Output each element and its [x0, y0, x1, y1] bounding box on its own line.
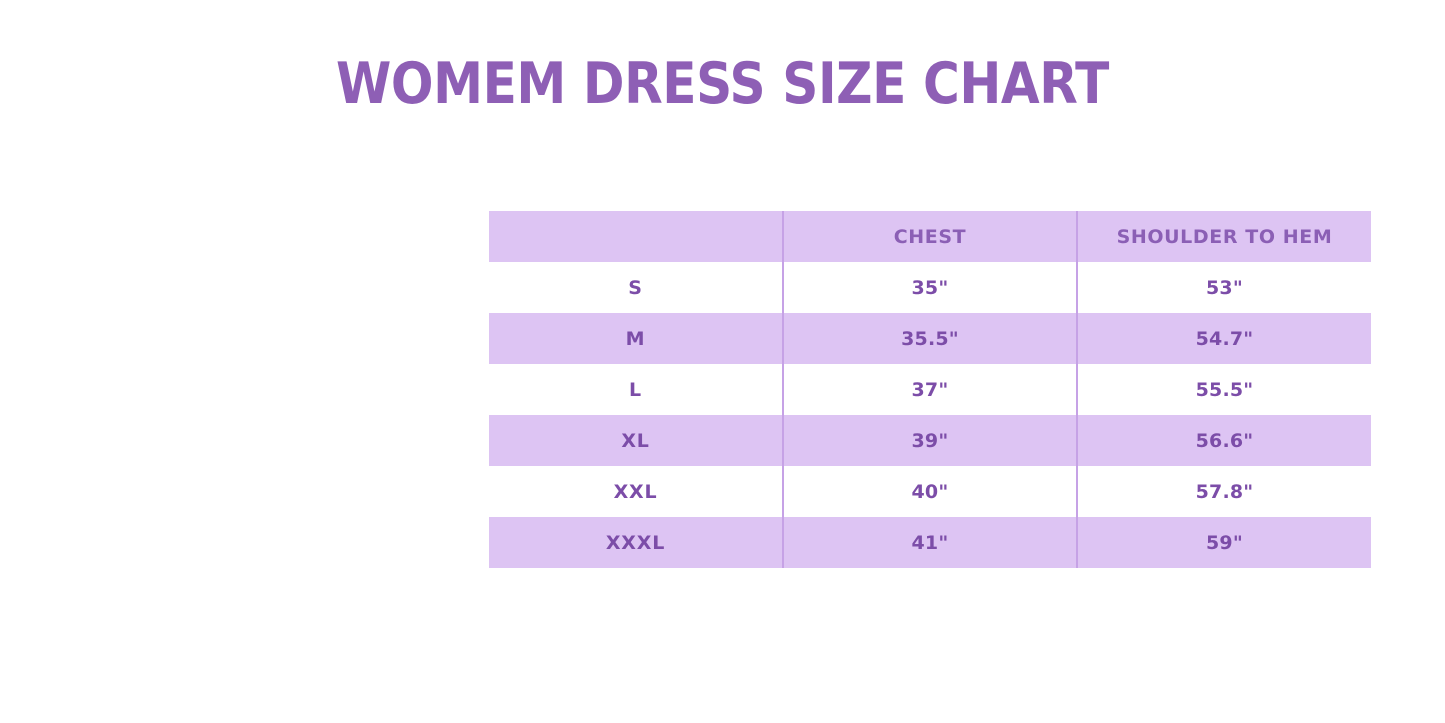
cell-shoulder-to-hem: 55.5": [1077, 364, 1371, 415]
size-chart-page: WOMEM DRESS SIZE CHART CHEST SHOULDER TO…: [0, 0, 1445, 723]
cell-shoulder-to-hem: 59": [1077, 517, 1371, 568]
cell-chest: 39": [783, 415, 1077, 466]
column-header-shoulder-to-hem-label: SHOULDER TO HEM: [1117, 226, 1333, 248]
cell-chest: 35": [783, 262, 1077, 313]
shoulder-to-hem-value: 56.6": [1196, 430, 1254, 452]
column-header-size: [489, 211, 783, 262]
table-row: XXXL 41" 59": [489, 517, 1371, 568]
shoulder-to-hem-value: 59": [1206, 532, 1243, 554]
cell-shoulder-to-hem: 56.6": [1077, 415, 1371, 466]
column-header-shoulder-to-hem: SHOULDER TO HEM: [1077, 211, 1371, 262]
chest-value: 35.5": [901, 328, 959, 350]
cell-chest: 41": [783, 517, 1077, 568]
chest-value: 37": [912, 379, 949, 401]
size-label: M: [626, 328, 646, 350]
column-header-chest-label: CHEST: [894, 226, 966, 248]
cell-chest: 40": [783, 466, 1077, 517]
table-row: L 37" 55.5": [489, 364, 1371, 415]
cell-chest: 37": [783, 364, 1077, 415]
cell-size: XXXL: [489, 517, 783, 568]
table-row: XL 39" 56.6": [489, 415, 1371, 466]
shoulder-to-hem-value: 54.7": [1196, 328, 1254, 350]
size-label: L: [629, 379, 642, 401]
column-header-chest: CHEST: [783, 211, 1077, 262]
table-row: M 35.5" 54.7": [489, 313, 1371, 364]
chest-value: 35": [912, 277, 949, 299]
cell-size: XXL: [489, 466, 783, 517]
table-row: S 35" 53": [489, 262, 1371, 313]
size-label: S: [628, 277, 642, 299]
table-header-row: CHEST SHOULDER TO HEM: [489, 211, 1371, 262]
cell-size: M: [489, 313, 783, 364]
size-label: XXL: [614, 481, 658, 503]
shoulder-to-hem-value: 55.5": [1196, 379, 1254, 401]
size-label: XL: [621, 430, 649, 452]
cell-size: XL: [489, 415, 783, 466]
cell-shoulder-to-hem: 57.8": [1077, 466, 1371, 517]
table-row: XXL 40" 57.8": [489, 466, 1371, 517]
shoulder-to-hem-value: 53": [1206, 277, 1243, 299]
chest-value: 40": [912, 481, 949, 503]
chest-value: 39": [912, 430, 949, 452]
shoulder-to-hem-value: 57.8": [1196, 481, 1254, 503]
page-title: WOMEM DRESS SIZE CHART: [87, 55, 1359, 115]
cell-size: L: [489, 364, 783, 415]
cell-size: S: [489, 262, 783, 313]
size-label: XXXL: [606, 532, 665, 554]
cell-shoulder-to-hem: 54.7": [1077, 313, 1371, 364]
size-chart-table: CHEST SHOULDER TO HEM S 35" 53": [489, 211, 1371, 568]
cell-shoulder-to-hem: 53": [1077, 262, 1371, 313]
chest-value: 41": [912, 532, 949, 554]
cell-chest: 35.5": [783, 313, 1077, 364]
